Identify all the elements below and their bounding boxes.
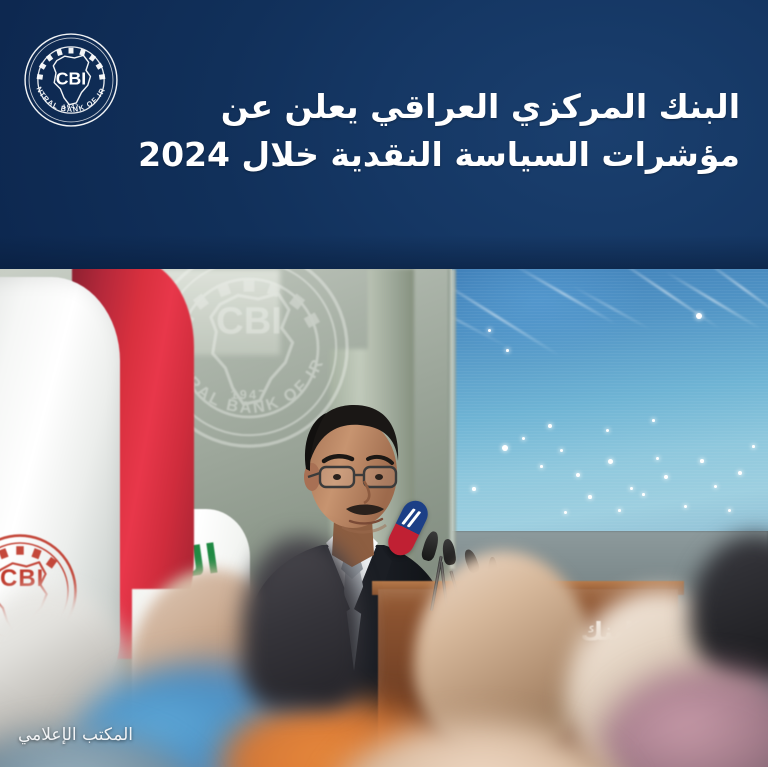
press-conference-photo: CBI 1947 CENTRAL BANK OF IRAQ (0, 269, 768, 767)
header-banner: CBI 1947 CENTRAL BANK OF IRAQ البنك المر… (0, 0, 768, 269)
announcement-card: CBI 1947 CENTRAL BANK OF IRAQ البنك المر… (0, 0, 768, 767)
audience-head-3 (242, 537, 362, 709)
page-title: البنك المركزي العراقي يعلن عن مؤشرات الس… (100, 84, 740, 179)
media-office-caption: المكتب الإعلامي (18, 725, 133, 745)
headline-line-2: مؤشرات السياسة النقدية خلال 2024 (100, 132, 740, 179)
audience-foreground (0, 269, 768, 767)
logo-monogram: CBI (56, 68, 86, 88)
headline-line-1: البنك المركزي العراقي يعلن عن (100, 84, 740, 131)
